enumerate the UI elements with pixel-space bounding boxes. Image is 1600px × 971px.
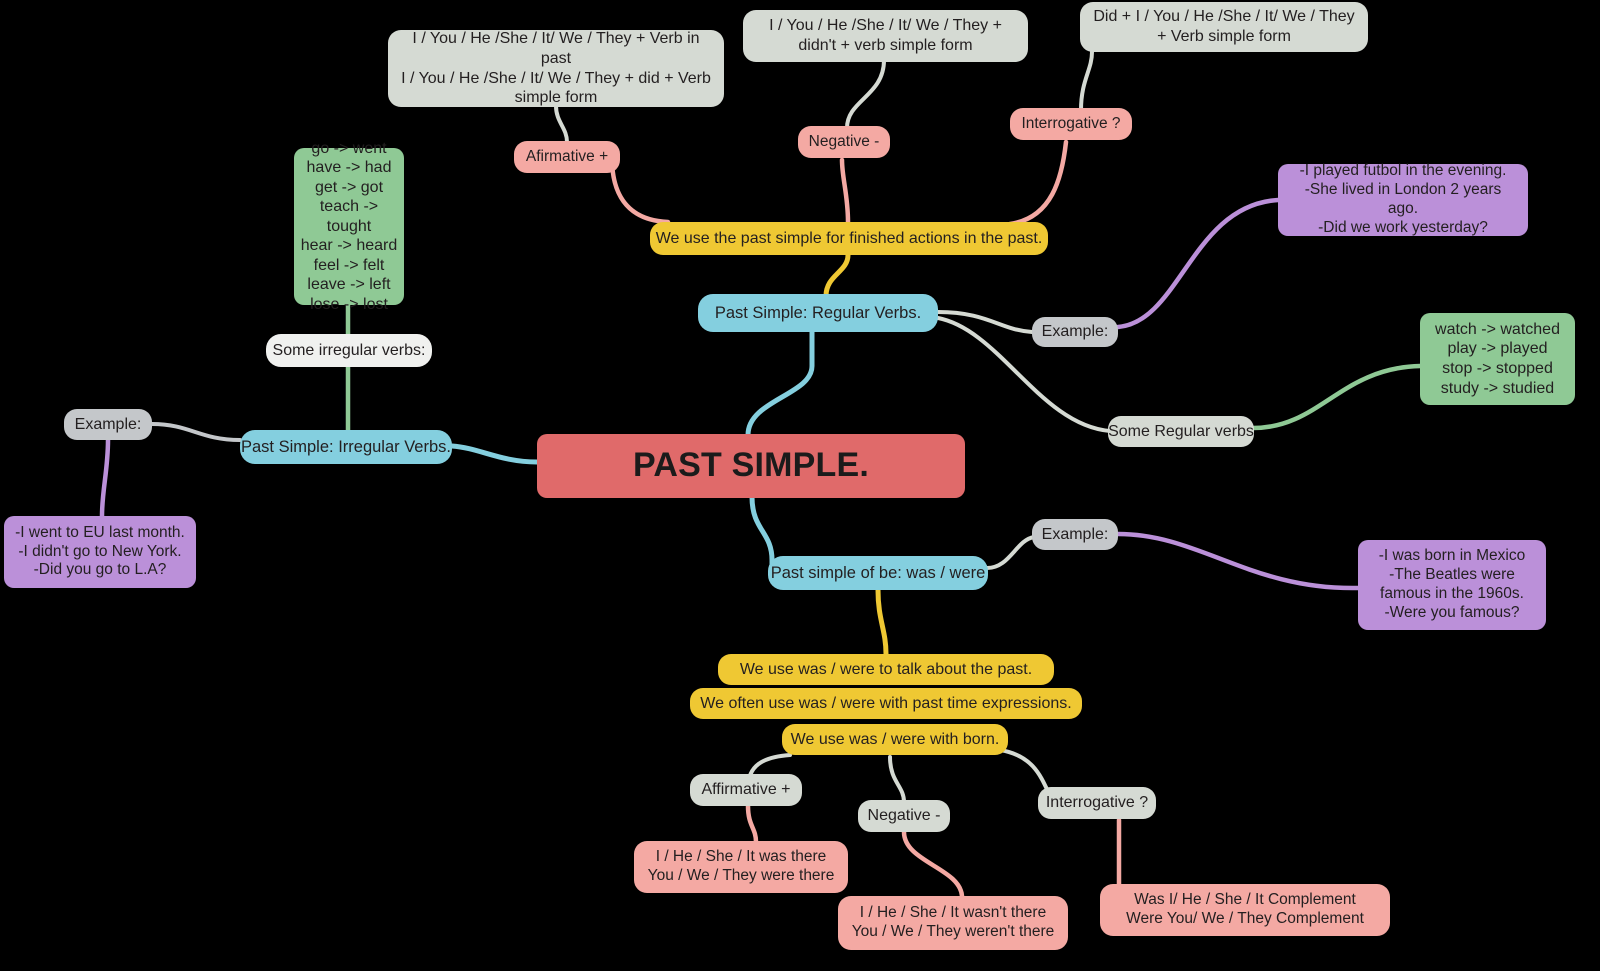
link-rule-negative-top [842,160,848,222]
link-regular-rule [826,255,848,296]
link-regular-example [938,312,1032,332]
link-root-regular [748,332,812,435]
label-interrogative-top[interactable]: Interrogative ? [1010,108,1132,140]
link-rule-affirmative-top [612,158,668,222]
rule-be-2[interactable]: We often use was / were with past time e… [690,688,1082,719]
form-interrogative-top[interactable]: Did + I / You / He /She / It/ We / They … [1080,2,1368,52]
form-affirmative-top[interactable]: I / You / He /She / It/ We / They + Verb… [388,30,724,107]
link-example-purple-regular [1118,200,1278,327]
form-interrogative-be[interactable]: Was I/ He / She / It Complement Were You… [1100,884,1390,936]
label-affirmative-top[interactable]: Afirmative + [514,141,620,173]
link-someregular-list [1253,366,1420,428]
list-some-irregular-verbs[interactable]: go -> went have -> had get -> got teach … [294,148,404,305]
label-some-regular-verbs[interactable]: Some Regular verbs [1108,416,1254,447]
label-some-irregular-verbs[interactable]: Some irregular verbs: [266,334,432,367]
label-negative-top[interactable]: Negative - [798,126,890,158]
link-affirmative-be-form [748,806,756,842]
link-root-irregular [452,446,537,462]
form-negative-top[interactable]: I / You / He /She / It/ We / They + didn… [743,10,1028,62]
link-example-purple-irregular [102,440,108,516]
link-rule-interrogative-top [1010,142,1066,224]
rule-be-1[interactable]: We use was / were to talk about the past… [718,654,1054,685]
link-interrogative-top-form [1081,52,1092,110]
branch-irregular-verbs[interactable]: Past Simple: Irregular Verbs. [240,430,452,464]
example-regular-text[interactable]: -I played futbol in the evening. -She li… [1278,164,1528,236]
branch-regular-verbs[interactable]: Past Simple: Regular Verbs. [698,294,938,332]
form-negative-be[interactable]: I / He / She / It wasn't there You / We … [838,896,1068,950]
link-be-rules [878,590,886,654]
list-some-regular-verbs[interactable]: watch -> watched play -> played stop -> … [1420,313,1575,405]
link-negative-be-form [904,832,962,896]
example-irregular-text[interactable]: -I went to EU last month. -I didn't go t… [4,516,196,588]
example-be-text[interactable]: -I was born in Mexico -The Beatles were … [1358,540,1546,630]
link-example-purple-be [1118,534,1358,588]
form-affirmative-be[interactable]: I / He / She / It was there You / We / T… [634,841,848,893]
mind-map-canvas: PAST SIMPLE. Past Simple: Regular Verbs.… [0,0,1600,971]
link-berule-negative [890,757,904,802]
link-negative-top-form [847,60,884,128]
label-example-regular[interactable]: Example: [1032,317,1118,347]
link-root-be [752,497,772,572]
rule-be-3[interactable]: We use was / were with born. [782,724,1008,755]
label-interrogative-be[interactable]: Interrogative ? [1038,787,1156,819]
label-example-irregular[interactable]: Example: [64,409,152,440]
root-node[interactable]: PAST SIMPLE. [537,434,965,498]
link-irregular-example [152,424,240,440]
label-example-be[interactable]: Example: [1032,519,1118,550]
label-negative-be[interactable]: Negative - [858,800,950,832]
link-be-example [987,537,1034,568]
label-affirmative-be[interactable]: Affirmative + [690,774,802,806]
rule-regular-verbs[interactable]: We use the past simple for finished acti… [650,222,1048,255]
branch-past-simple-be[interactable]: Past simple of be: was / were [768,556,988,590]
link-affirmative-top-form [556,106,567,142]
